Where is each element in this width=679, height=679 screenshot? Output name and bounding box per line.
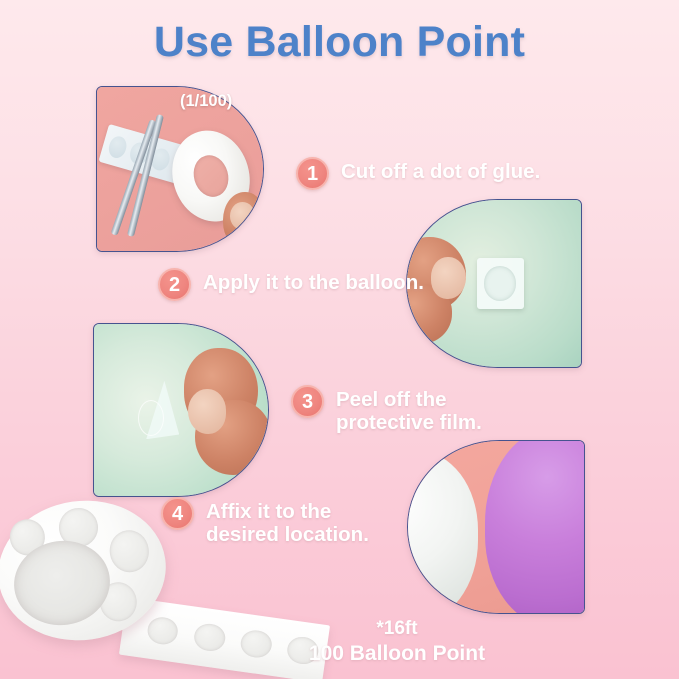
photo-panel-affix-balloons xyxy=(407,440,585,614)
length-note: *16ft xyxy=(282,618,512,641)
step-3: 3 Peel off the protective film. xyxy=(291,385,482,434)
step-number-badge: 2 xyxy=(158,268,191,301)
purple-balloon-icon xyxy=(485,441,584,613)
white-balloon-icon xyxy=(408,451,478,613)
glue-dot-outline-icon xyxy=(138,400,164,436)
step-1: 1 Cut off a dot of glue. xyxy=(296,157,540,190)
glue-dot-icon xyxy=(146,615,180,646)
product-photo-glue-dot-roll xyxy=(0,493,324,679)
glue-dot-icon xyxy=(107,528,151,575)
glue-dot-icon xyxy=(192,622,226,653)
step-label: Apply it to the balloon. xyxy=(203,268,424,294)
fingernail-icon xyxy=(230,202,255,230)
step-number-badge: 1 xyxy=(296,157,329,190)
glue-dot-icon xyxy=(239,628,273,659)
photo-panel-peel-film xyxy=(93,323,269,497)
page-title: Use Balloon Point xyxy=(0,18,679,67)
panel-4-image xyxy=(408,441,584,613)
fingernail-icon xyxy=(188,389,226,434)
fingernail-icon xyxy=(431,257,466,299)
panel-1-image xyxy=(97,87,263,251)
quantity-note: 100 Balloon Point xyxy=(282,641,512,666)
footer-caption: *16ft 100 Balloon Point xyxy=(282,618,512,666)
step-2: 2 Apply it to the balloon. xyxy=(158,268,424,301)
step-label: Peel off the protective film. xyxy=(336,385,482,434)
fraction-label: (1/100) xyxy=(180,92,232,111)
panel-2-image xyxy=(407,200,581,367)
step-label: Cut off a dot of glue. xyxy=(341,157,540,183)
photo-panel-apply-to-balloon xyxy=(406,199,582,368)
panel-3-image xyxy=(94,324,268,496)
infographic-canvas: Use Balloon Point (1/100) xyxy=(0,0,679,679)
glue-dot-icon xyxy=(106,134,129,160)
glue-dot-sticker-icon xyxy=(477,258,524,308)
glue-dot-icon xyxy=(484,266,516,300)
step-number-badge: 3 xyxy=(291,385,324,418)
tape-roll-hole xyxy=(190,151,234,201)
